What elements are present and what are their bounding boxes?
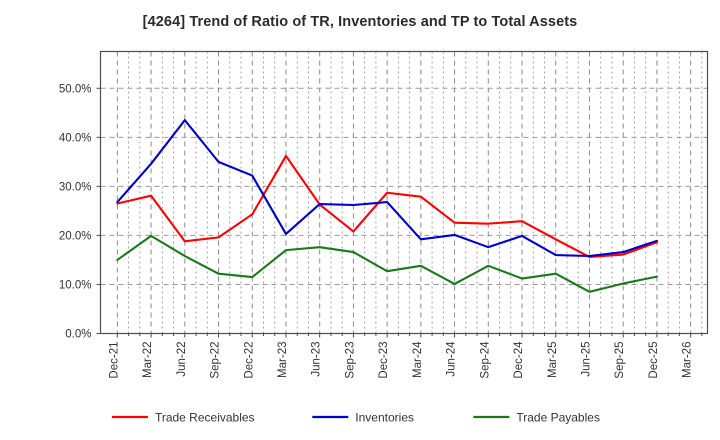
axis-tick-marks [97, 88, 702, 337]
chart-legend[interactable]: Trade ReceivablesInventoriesTrade Payabl… [112, 411, 600, 425]
x-axis-label: Dec-23 [378, 342, 390, 379]
legend-item-trade-receivables[interactable]: Trade Receivables [112, 411, 255, 425]
y-axis-label: 20.0% [59, 230, 92, 242]
x-axis-label: Mar-22 [142, 342, 154, 378]
x-axis-label: Dec-21 [108, 342, 120, 379]
y-axis-label: 50.0% [59, 83, 92, 95]
x-axis-label: Mar-26 [682, 342, 694, 378]
plot-frame [101, 52, 708, 334]
legend-label: Trade Receivables [155, 411, 255, 425]
x-axis-tick-labels: Dec-21Mar-22Jun-22Sep-22Dec-22Mar-23Jun-… [108, 341, 693, 379]
line-chart-plot: 0.0%10.0%20.0%30.0%40.0%50.0% Dec-21Mar-… [0, 0, 720, 440]
y-axis-label: 40.0% [59, 132, 92, 144]
x-axis-label: Dec-25 [648, 342, 660, 379]
x-axis-label: Sep-24 [479, 341, 491, 379]
y-axis-tick-labels: 0.0%10.0%20.0%30.0%40.0%50.0% [59, 83, 92, 340]
legend-label: Trade Payables [516, 411, 600, 425]
legend-item-inventories[interactable]: Inventories [312, 411, 414, 425]
x-axis-label: Dec-24 [513, 341, 525, 379]
x-axis-label: Jun-25 [580, 342, 592, 377]
x-axis-label: Mar-24 [412, 341, 424, 378]
y-axis-label: 30.0% [59, 181, 92, 193]
legend-label: Inventories [355, 411, 414, 425]
x-axis-label: Dec-22 [243, 342, 255, 379]
x-axis-label: Sep-25 [614, 342, 626, 379]
x-axis-label: Jun-23 [311, 342, 323, 377]
chart-container: [4264] Trend of Ratio of TR, Inventories… [0, 0, 720, 440]
y-axis-label: 10.0% [59, 279, 92, 291]
y-axis-label: 0.0% [65, 329, 91, 341]
x-axis-label: Jun-24 [446, 341, 458, 377]
x-axis-label: Sep-22 [210, 342, 222, 379]
legend-item-trade-payables[interactable]: Trade Payables [473, 411, 600, 425]
x-axis-label: Mar-23 [277, 342, 289, 378]
x-axis-label: Mar-25 [547, 342, 559, 378]
x-axis-label: Sep-23 [344, 342, 356, 379]
x-axis-label: Jun-22 [176, 342, 188, 377]
minor-gridlines [117, 52, 702, 334]
